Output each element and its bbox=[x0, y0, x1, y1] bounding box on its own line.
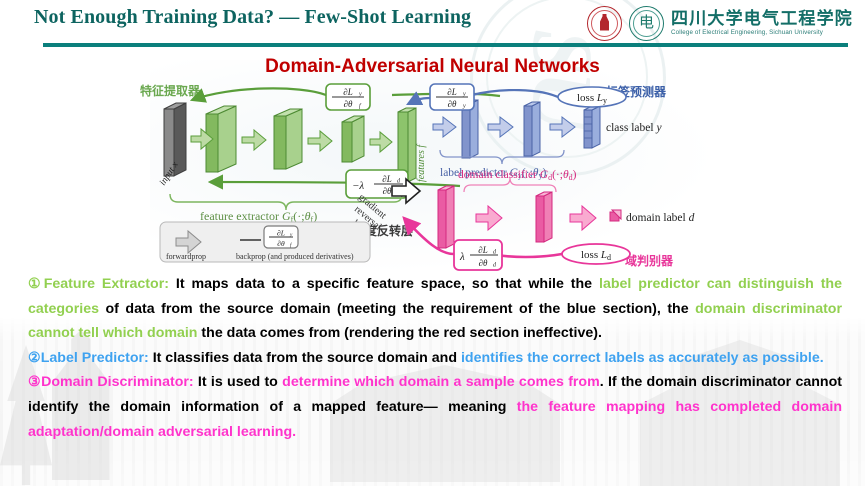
slide-root: SU Not Enough Training Data? — Few-Shot … bbox=[0, 0, 865, 486]
university-name-cn: 四川大学电气工程学院 bbox=[671, 10, 853, 29]
p1-text-1: It maps data to a specific feature space… bbox=[169, 276, 599, 292]
p1-text-3: the data comes from (rendering the red s… bbox=[197, 325, 601, 341]
label-features: features f bbox=[416, 144, 427, 182]
p2-number: ② bbox=[28, 350, 41, 366]
p2-text-1: It classifies data from the source domai… bbox=[149, 350, 461, 366]
grad-y-f-box: ∂L y ∂θ f bbox=[326, 84, 370, 110]
p1-heading: Feature Extractor: bbox=[44, 276, 169, 292]
header-logo-group: 电 四川大学电气工程学院 College of Electrical Engin… bbox=[587, 5, 853, 41]
svg-text:loss Ly: loss Ly bbox=[577, 92, 607, 105]
university-name-en: College of Electrical Engineering, Sichu… bbox=[671, 29, 853, 37]
svg-text:∂θ: ∂θ bbox=[344, 99, 353, 109]
p1-text-2: of data from the source domain (meeting … bbox=[99, 301, 695, 317]
seal-glyph: 电 bbox=[630, 14, 663, 31]
svg-text:∂L: ∂L bbox=[447, 87, 456, 97]
svg-text:domain label d: domain label d bbox=[626, 212, 695, 224]
electrical-engineering-seal-icon: 电 bbox=[629, 6, 664, 41]
header-divider bbox=[43, 43, 848, 47]
p1-number: ① bbox=[28, 276, 44, 292]
svg-text:∂L: ∂L bbox=[277, 229, 285, 238]
explanation-text: ①Feature Extractor: It maps data to a sp… bbox=[28, 272, 842, 444]
grad-y-y-box: ∂L y ∂θ y bbox=[430, 84, 474, 110]
sichuan-university-seal-icon bbox=[587, 6, 622, 41]
paragraph-label-predictor: ②Label Predictor: It classifies data fro… bbox=[28, 346, 842, 371]
diagram-legend: forwardprop ∂L y ∂θ f backprop (and prod… bbox=[160, 222, 370, 262]
brace-label-predictor bbox=[440, 150, 564, 164]
p3-number: ③ bbox=[28, 374, 41, 390]
svg-text:∂θ: ∂θ bbox=[277, 239, 285, 248]
p3-text-1: It is used to bbox=[194, 374, 283, 390]
svg-text:y: y bbox=[462, 104, 466, 110]
svg-text:∂L: ∂L bbox=[382, 174, 391, 184]
svg-text:∂θ: ∂θ bbox=[383, 186, 392, 196]
p2-highlight-1: identifies the correct labels as accurat… bbox=[461, 350, 824, 366]
dann-diagram-svg: input x bbox=[140, 82, 730, 272]
svg-text:y: y bbox=[358, 92, 362, 98]
page-title: Not Enough Training Data? — Few-Shot Lea… bbox=[34, 6, 471, 29]
legend-forwardprop: forwardprop bbox=[166, 252, 206, 261]
p2-heading: Label Predictor: bbox=[41, 350, 149, 366]
loss-y-node: loss Ly bbox=[558, 87, 626, 107]
legend-backprop: backprop (and produced derivatives) bbox=[236, 252, 354, 261]
caption-domain-classifier: domain classifier Gd(·;θd) bbox=[458, 169, 577, 182]
p3-highlight-1: determine which domain a sample comes fr… bbox=[282, 374, 600, 390]
p3-heading: Domain Discriminator: bbox=[41, 374, 194, 390]
university-wordmark: 四川大学电气工程学院 College of Electrical Enginee… bbox=[671, 10, 853, 37]
svg-text:∂θ: ∂θ bbox=[479, 258, 488, 268]
svg-text:y: y bbox=[462, 92, 466, 98]
paragraph-domain-discriminator: ③Domain Discriminator: It is used to det… bbox=[28, 370, 842, 444]
node-input: input x bbox=[158, 103, 186, 188]
node-domain-label: domain label d bbox=[610, 210, 695, 224]
svg-text:∂θ: ∂θ bbox=[448, 99, 457, 109]
forward-arrows-blue bbox=[433, 117, 575, 137]
svg-text:λ: λ bbox=[459, 251, 465, 263]
label-predictor-blocks bbox=[462, 100, 600, 158]
paragraph-feature-extractor: ①Feature Extractor: It maps data to a sp… bbox=[28, 272, 842, 346]
diagram-title: Domain-Adversarial Neural Networks bbox=[0, 56, 865, 78]
label-class-label: class label y bbox=[606, 122, 662, 134]
grad-d-d-box: λ ∂L d ∂θ d bbox=[454, 240, 502, 270]
svg-text:∂L: ∂L bbox=[343, 87, 352, 97]
dann-architecture-diagram: 特征提取器 标签预测器 域判别器 梯度反转层 bbox=[140, 82, 730, 272]
svg-text:loss Ld: loss Ld bbox=[581, 249, 611, 262]
svg-text:∂L: ∂L bbox=[478, 245, 487, 255]
loss-d-node: loss Ld bbox=[562, 244, 630, 264]
svg-text:−λ: −λ bbox=[352, 180, 364, 192]
